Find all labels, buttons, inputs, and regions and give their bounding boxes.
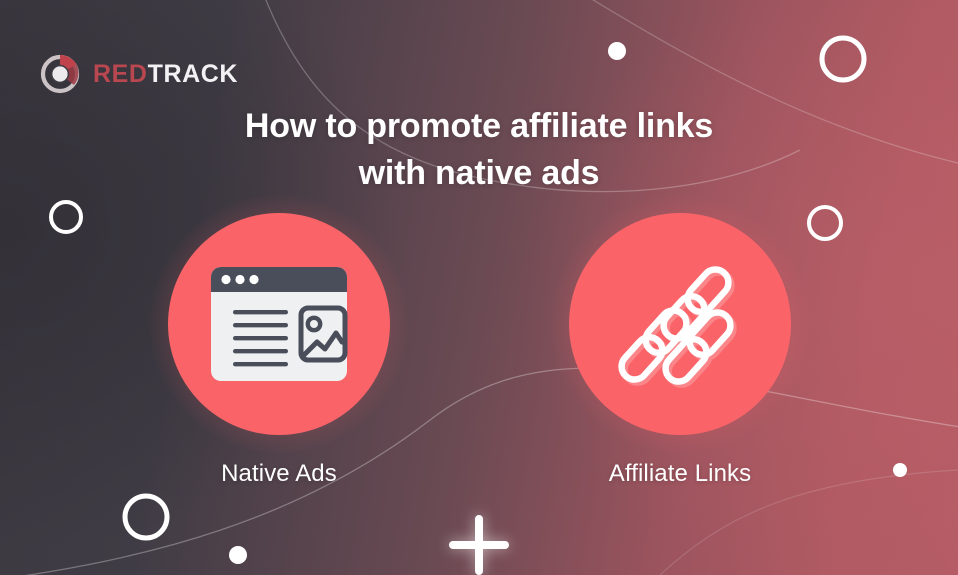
native-ads-label: Native Ads <box>129 462 429 486</box>
concepts-row: Native Ads <box>0 213 958 503</box>
concept-native-ads: Native Ads <box>129 213 429 486</box>
affiliate-links-label: Affiliate Links <box>530 462 830 486</box>
redtrack-donut-logo-icon <box>38 52 82 96</box>
native-ad-browser-window-icon <box>209 265 349 383</box>
ring-top-right <box>822 38 864 80</box>
plus-operator-icon <box>449 515 509 575</box>
title-line-2: with native ads <box>0 150 958 197</box>
concept-affiliate-links: Affiliate Links <box>530 213 830 486</box>
plus-vertical-bar <box>475 515 483 575</box>
title-line-1: How to promote affiliate links <box>0 103 958 150</box>
wordmark-red: RED <box>93 60 148 88</box>
wordmark-track: TRACK <box>148 60 239 88</box>
redtrack-logo[interactable]: REDTRACK <box>38 52 238 96</box>
affiliate-links-disc <box>569 213 791 435</box>
chain-links-icon <box>614 258 746 390</box>
cover-canvas: REDTRACK How to promote affiliate links … <box>0 0 958 575</box>
page-title: How to promote affiliate links with nati… <box>0 103 958 197</box>
native-ads-disc <box>168 213 390 435</box>
dot-bottom-left <box>229 546 247 564</box>
dot-top-center <box>608 42 626 60</box>
redtrack-wordmark: REDTRACK <box>93 62 238 87</box>
